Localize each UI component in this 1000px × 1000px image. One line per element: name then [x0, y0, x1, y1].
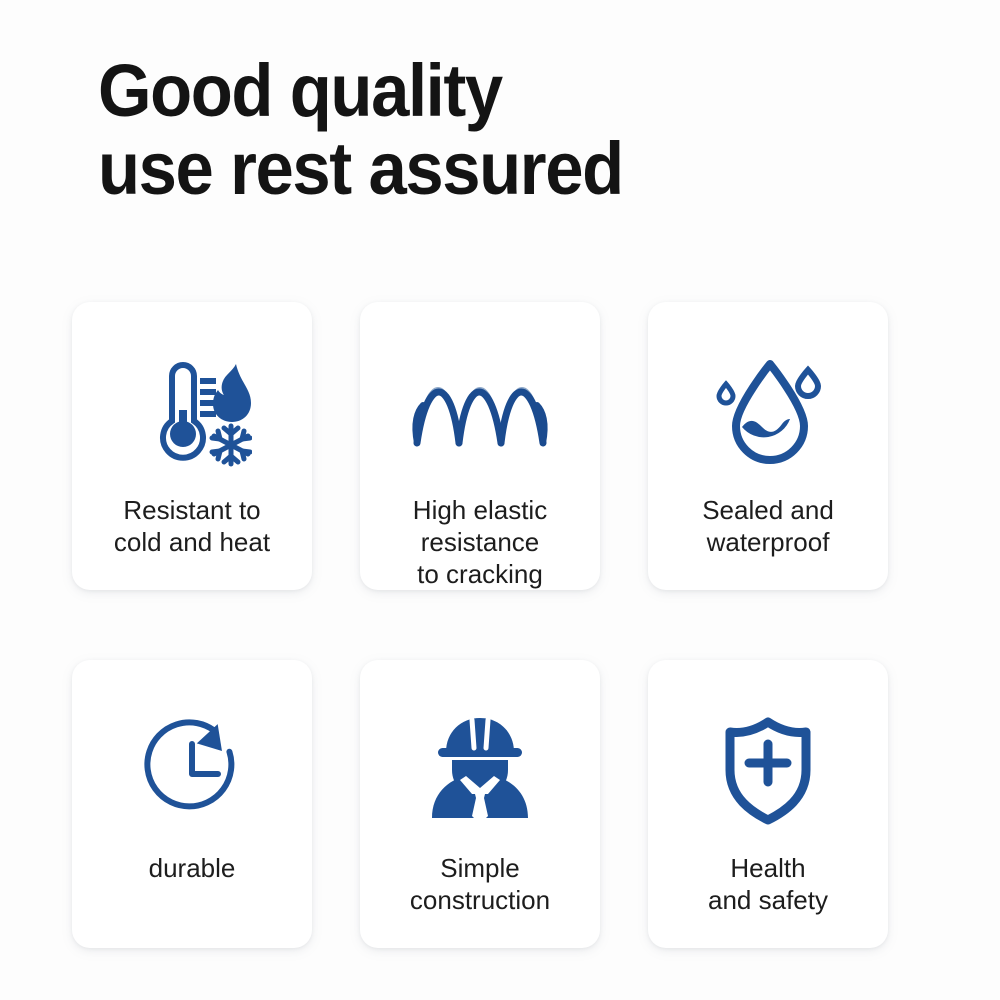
- feature-card-resistant-to-cold-and-heat: Resistant to cold and heat: [72, 302, 312, 590]
- feature-card-label: High elastic resistance to cracking: [405, 494, 555, 590]
- feature-card-high-elastic-resistance: High elastic resistance to cracking: [360, 302, 600, 590]
- page-title: Good quality use rest assured: [98, 52, 838, 208]
- clock-arrow-icon: [72, 702, 312, 830]
- page-title-line-2: use rest assured: [98, 130, 786, 208]
- feature-highlights-page: Good quality use rest assured: [0, 0, 1000, 1000]
- feature-card-sealed-and-waterproof: Sealed and waterproof: [648, 302, 888, 590]
- construction-worker-icon: [360, 702, 600, 830]
- feature-card-label: Health and safety: [700, 852, 836, 916]
- feature-card-label: Resistant to cold and heat: [106, 494, 278, 558]
- feature-card-label: durable: [141, 852, 244, 884]
- feature-card-label: Simple construction: [402, 852, 558, 916]
- shield-plus-icon: [648, 702, 888, 830]
- page-title-line-1: Good quality: [98, 52, 786, 130]
- thermometer-flame-snowflake-icon: [72, 344, 312, 472]
- feature-card-label: Sealed and waterproof: [694, 494, 842, 558]
- spring-coil-icon: [360, 344, 600, 472]
- feature-grid: Resistant to cold and heat High elastic …: [72, 302, 928, 948]
- feature-card-durable: durable: [72, 660, 312, 948]
- water-droplet-icon: [648, 344, 888, 472]
- feature-card-health-and-safety: Health and safety: [648, 660, 888, 948]
- feature-card-simple-construction: Simple construction: [360, 660, 600, 948]
